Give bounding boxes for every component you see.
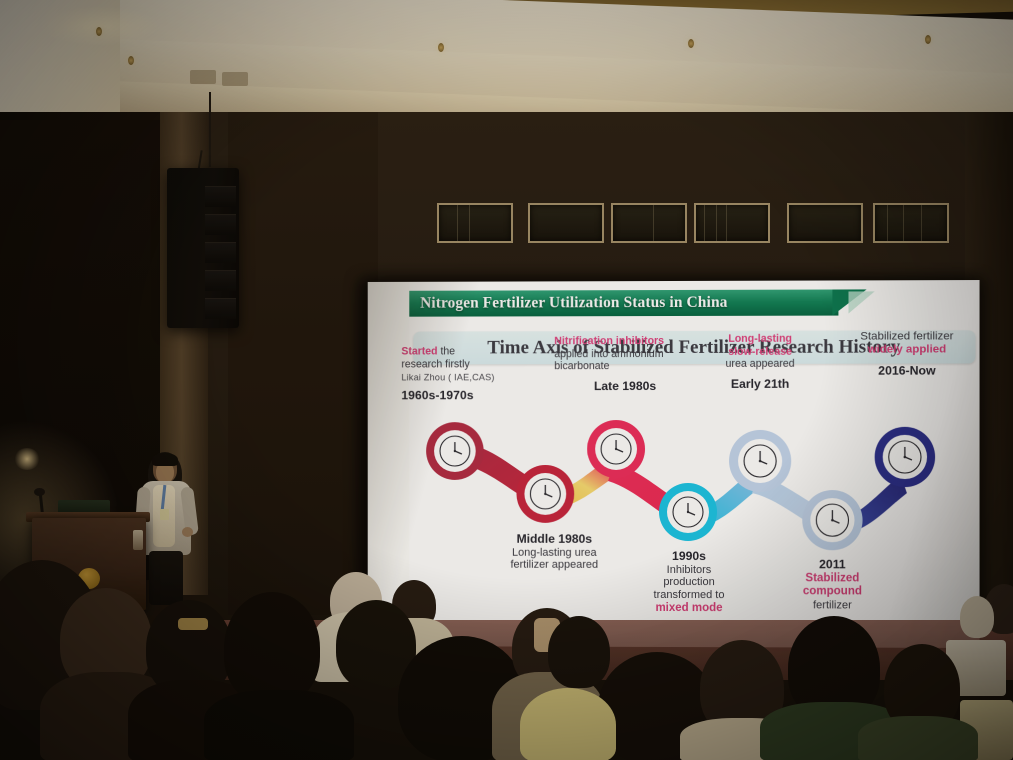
- timeline-label-7: Stabilized fertilizer widely applied 201…: [838, 330, 975, 378]
- timeline-label-6: 2011 Stabilized compound fertilizer: [778, 557, 887, 612]
- audience-head: [960, 596, 994, 638]
- presenter-hair-front: [152, 453, 178, 466]
- timeline-label-5: Long-lasting slow-release urea appeared …: [704, 333, 816, 391]
- timeline-label-4: 1990s Inhibitors production transformed …: [636, 549, 742, 616]
- audience-head: [224, 592, 320, 704]
- audience-hair-clip: [178, 618, 208, 630]
- banner-tail-accent: [848, 291, 874, 313]
- ceiling-downlight: [128, 56, 134, 65]
- slide-banner-title: Nitrogen Fertilizer Utilization Status i…: [420, 294, 727, 313]
- water-glass: [133, 530, 143, 550]
- node3-headline-accent: Nitrification inhibitors: [554, 335, 664, 347]
- ceiling-downlight: [96, 27, 102, 36]
- ceiling-glow: [40, 6, 160, 46]
- presenter-legs: [149, 551, 183, 605]
- wall-framed-panel: [694, 203, 770, 243]
- node1-line2: research firstly: [401, 358, 469, 370]
- ceiling-downlight: [925, 35, 931, 44]
- node5-year: Early 21th: [704, 376, 816, 391]
- ceiling: [0, 0, 1013, 112]
- node5-line3: urea appeared: [726, 358, 795, 370]
- wall-framed-panel: [873, 203, 949, 243]
- wall-framed-panel: [437, 203, 513, 243]
- node6-desc-accent-2: compound: [803, 585, 862, 597]
- node4-desc-2: production: [663, 576, 714, 588]
- node4-year: 1990s: [672, 549, 706, 563]
- node1-line3: Likai Zhou ( IAE,CAS): [401, 372, 525, 383]
- timeline-graphic: Started the research firstly Likai Zhou …: [409, 366, 979, 648]
- node5-headline-accent-2: slow-release: [728, 345, 792, 357]
- line-array-speaker: [167, 168, 239, 328]
- node4-desc-3: transformed to: [654, 589, 725, 601]
- node2-desc-1: Long-lasting urea: [512, 546, 597, 558]
- timeline-label-2: Middle 1980s Long-lasting urea fertilize…: [485, 532, 624, 573]
- timeline-label-3: Nitrification inhibitors applied into am…: [554, 335, 696, 393]
- conference-photo: Nitrogen Fertilizer Utilization Status i…: [0, 0, 1013, 760]
- audience-head: [548, 616, 610, 688]
- audience-body: [204, 690, 354, 760]
- audience-body: [858, 716, 978, 760]
- microphone-icon: [34, 488, 45, 496]
- node7-line1: Stabilized fertilizer: [860, 330, 953, 342]
- node1-headline-accent: Started: [401, 345, 437, 357]
- wall-dark-section: [228, 95, 378, 615]
- node2-desc-2: fertilizer appeared: [510, 559, 598, 571]
- node6-desc-accent-1: Stabilized: [805, 572, 859, 584]
- node7-year: 2016-Now: [838, 363, 975, 378]
- audience-head: [520, 688, 616, 760]
- ceiling-marking: [190, 70, 216, 84]
- wall-framed-panel: [787, 203, 863, 243]
- node3-year: Late 1980s: [554, 378, 696, 393]
- presenter-hand: [182, 527, 193, 537]
- node7-headline-accent: widely applied: [868, 344, 946, 356]
- node5-headline-accent-1: Long-lasting: [728, 333, 792, 345]
- speaker-suspension-wire: [209, 92, 211, 167]
- node6-year: 2011: [819, 557, 846, 571]
- wall-framed-panel: [528, 203, 604, 243]
- ceiling-downlight: [438, 43, 444, 52]
- node4-desc-1: Inhibitors: [667, 563, 712, 575]
- projection-screen: Nitrogen Fertilizer Utilization Status i…: [368, 280, 980, 648]
- presentation-slide: Nitrogen Fertilizer Utilization Status i…: [409, 280, 979, 648]
- node3-line3: bicarbonate: [554, 360, 609, 372]
- wall-framed-panel: [611, 203, 687, 243]
- node4-desc-accent: mixed mode: [655, 602, 722, 614]
- node3-line2: applied into ammonium: [554, 348, 663, 360]
- node1-headline-rest: the: [438, 345, 456, 357]
- timeline-label-1: Started the research firstly Likai Zhou …: [401, 345, 525, 402]
- slide-banner: Nitrogen Fertilizer Utilization Status i…: [409, 289, 838, 316]
- presenter-badge: [160, 509, 169, 520]
- ceiling-marking: [222, 72, 248, 86]
- node6-desc-3: fertilizer: [813, 599, 852, 611]
- wall-lamp-glow: [14, 448, 40, 470]
- ceiling-downlight: [688, 39, 694, 48]
- node2-year: Middle 1980s: [517, 532, 593, 546]
- node1-year: 1960s-1970s: [401, 388, 525, 402]
